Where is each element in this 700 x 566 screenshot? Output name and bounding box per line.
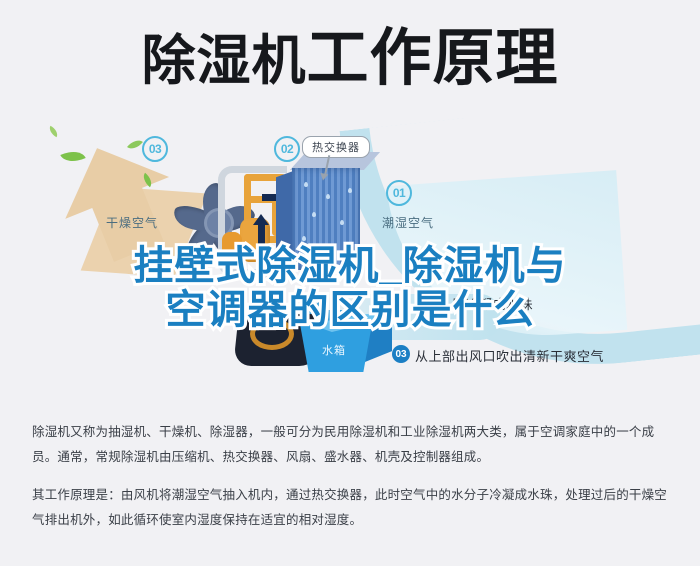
step-badge-03: 03 [142, 136, 168, 162]
humid-air-label: 潮湿空气 [382, 214, 434, 231]
water-tank-label: 水箱 [322, 342, 346, 358]
overlay-headline-line-2: 空调器的区别是什么 [0, 288, 700, 332]
caption-text-03: 从上部出风口吹出清新干爽空气 [415, 346, 604, 365]
overlay-headline: 挂壁式除湿机_除湿机与 空调器的区别是什么 [0, 244, 700, 332]
page-title-part-2: 工作原理 [306, 24, 558, 93]
flow-arrow-up-icon [258, 224, 265, 244]
leaf-icon [127, 136, 143, 153]
article-body: 除湿机又称为抽湿机、干燥机、除湿器，一般可分为民用除湿机和工业除湿机两大类，属于… [32, 420, 672, 546]
leaf-icon [47, 126, 60, 138]
infographic-page: 除湿机工作原理 干燥空气 [0, 0, 700, 566]
caption-badge-03: 03 [392, 345, 410, 363]
dry-air-label: 干燥空气 [106, 214, 158, 231]
page-title-part-1: 除湿机 [141, 31, 306, 91]
step-badge-02: 02 [274, 136, 300, 162]
body-paragraph-1: 除湿机又称为抽湿机、干燥机、除湿器，一般可分为民用除湿机和工业除湿机两大类，属于… [32, 420, 672, 470]
step-badge-01: 01 [386, 180, 412, 206]
page-title: 除湿机工作原理 [0, 28, 700, 90]
body-paragraph-2: 其工作原理是：由风机将潮湿空气抽入机内，通过热交换器，此时空气中的水分子冷凝成水… [32, 483, 672, 533]
heat-exchanger-callout: 热交换器 [302, 136, 370, 158]
overlay-headline-line-1: 挂壁式除湿机_除湿机与 [0, 244, 700, 288]
leaf-icon [60, 146, 85, 167]
